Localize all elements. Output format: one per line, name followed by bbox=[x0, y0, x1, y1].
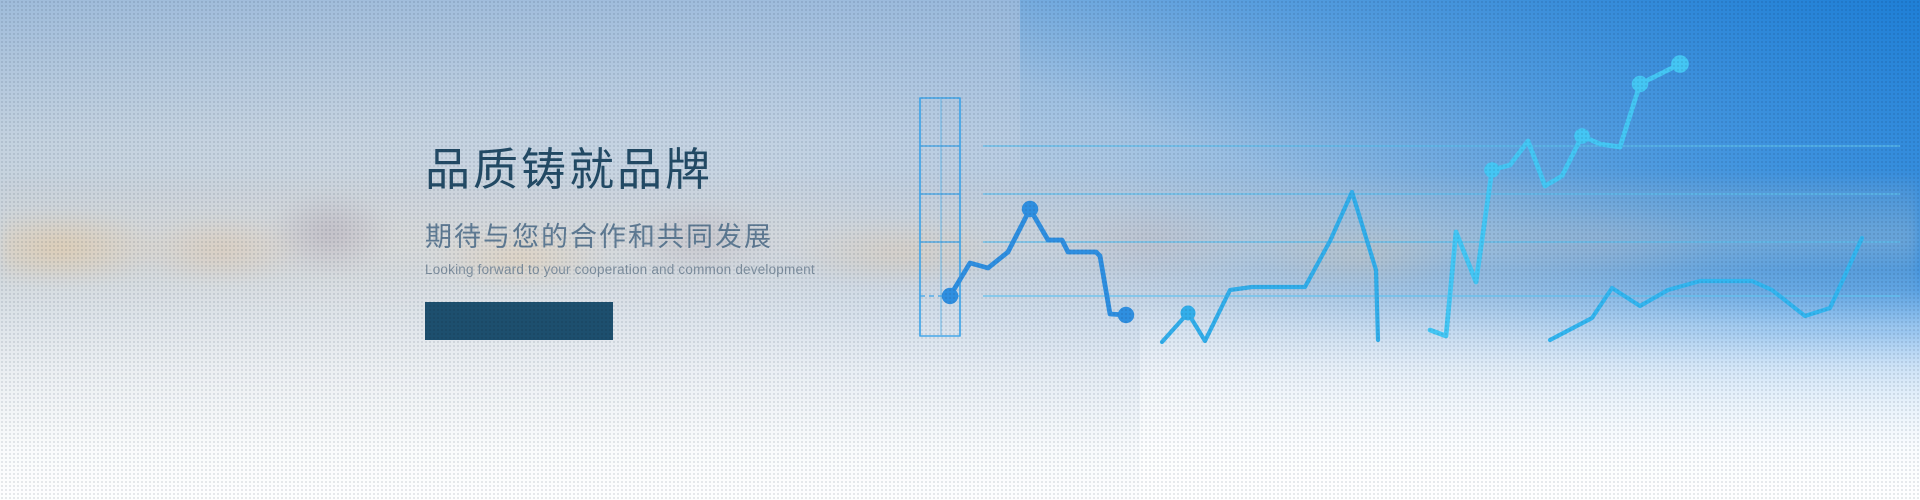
data-point-marker bbox=[1574, 128, 1590, 144]
subtitle-en: Looking forward to your cooperation and … bbox=[425, 261, 1065, 279]
chart-gridlines bbox=[920, 146, 1900, 296]
subtitle-cn: 期待与您的合作和共同发展 bbox=[425, 221, 1065, 253]
promo-banner: 100000 80000 60000 40000 bbox=[0, 0, 1920, 500]
data-point-marker bbox=[1484, 162, 1500, 178]
data-point-marker bbox=[1671, 55, 1689, 73]
chart-series-2 bbox=[1162, 192, 1378, 342]
chart-series-4 bbox=[1550, 238, 1862, 340]
data-point-marker bbox=[1632, 76, 1648, 92]
banner-copy: 品质铸就品牌 期待与您的合作和共同发展 Looking forward to y… bbox=[425, 145, 1065, 340]
chart-series-3 bbox=[1430, 55, 1689, 336]
data-point-marker bbox=[1118, 307, 1134, 323]
page-title: 品质铸就品牌 bbox=[425, 145, 1065, 195]
learn-more-button[interactable] bbox=[425, 302, 613, 340]
data-point-marker bbox=[1181, 306, 1196, 321]
